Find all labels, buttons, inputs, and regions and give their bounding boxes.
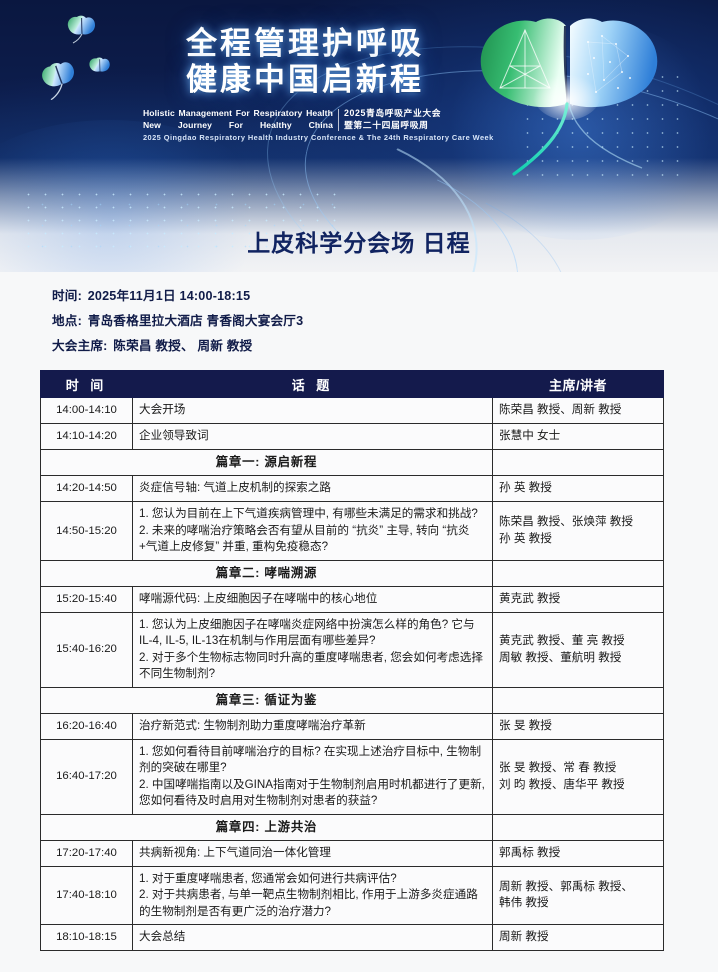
speaker-line: 周新 教授、郭禹标 教授、 [499, 879, 657, 896]
topic-line: 哮喘源代码: 上皮细胞因子在哮喘中的核心地位 [139, 591, 486, 608]
subtitle-word: Respiratory [254, 108, 303, 120]
schedule-row: 17:20-17:40共病新视角: 上下气道同治一体化管理郭禹标 教授 [41, 840, 664, 866]
page-title: 上皮科学分会场 日程 [0, 228, 718, 258]
row-time: 15:20-15:40 [41, 586, 133, 612]
row-speaker: 黄克武 教授 [493, 586, 664, 612]
topic-line: 企业领导致词 [139, 428, 486, 445]
row-speaker: 郭禹标 教授 [493, 840, 664, 866]
topic-line: 炎症信号轴: 气道上皮机制的探索之路 [139, 480, 486, 497]
speaker-line: 陈荣昌 教授、张焕萍 教授 [499, 514, 657, 531]
schedule-row: 16:20-16:40治疗新范式: 生物制剂助力重度哮喘治疗革新张 旻 教授 [41, 713, 664, 739]
row-time: 14:20-14:50 [41, 476, 133, 502]
row-topic: 1. 您认为目前在上下气道疾病管理中, 有哪些未满足的需求和挑战?2. 未来的哮… [133, 502, 493, 561]
section-title: 篇章一: 源启新程 [41, 450, 493, 476]
speaker-line: 孙 英 教授 [499, 531, 657, 548]
schedule-row: 18:10-18:15大会总结周新 教授 [41, 925, 664, 951]
row-time: 15:40-16:20 [41, 612, 133, 687]
speaker-line: 张 旻 教授、常 春 教授 [499, 760, 657, 777]
subtitle-cn-line-2: 暨第二十四届呼吸周 [344, 120, 441, 132]
meta-venue-label: 地点: [52, 314, 82, 328]
speaker-line: 郭禹标 教授 [499, 845, 657, 862]
banner-subtitle-english: Holistic Management For Respiratory Heal… [143, 108, 333, 131]
meta-time-row: 时间: 2025年11月1日 14:00-18:15 [52, 284, 718, 309]
section-speaker-empty [493, 687, 664, 713]
flying-leaf-3 [37, 55, 86, 106]
meta-chair-label: 大会主席: [52, 339, 108, 353]
schedule-section-row: 篇章三: 循证为鉴 [41, 687, 664, 713]
schedule-row: 15:40-16:201. 您认为上皮细胞因子在哮喘炎症网络中扮演怎么样的角色?… [41, 612, 664, 687]
banner-subtitle-chinese: 2025青岛呼吸产业大会 暨第二十四届呼吸周 [344, 108, 441, 131]
row-time: 16:20-16:40 [41, 713, 133, 739]
row-topic: 1. 您认为上皮细胞因子在哮喘炎症网络中扮演怎么样的角色? 它与IL-4, IL… [133, 612, 493, 687]
topic-line: 1. 您如何看待目前哮喘治疗的目标? 在实现上述治疗目标中, 生物制剂的突破在哪… [139, 744, 486, 777]
section-speaker-empty [493, 450, 664, 476]
speaker-line: 张 旻 教授 [499, 718, 657, 735]
row-speaker: 陈荣昌 教授、周新 教授 [493, 398, 664, 424]
subtitle-word: For [229, 120, 243, 132]
meta-time-label: 时间: [52, 289, 82, 303]
row-speaker: 孙 英 教授 [493, 476, 664, 502]
speaker-line: 周新 教授 [499, 929, 657, 946]
subtitle-word: Health [306, 108, 333, 120]
ginkgo-leaf-small-icon [66, 14, 98, 44]
topic-line: 2. 未来的哮喘治疗策略会否有望从目前的 “抗炎” 主导, 转向 “抗炎+气道上… [139, 523, 486, 556]
ginkgo-leaf-small-icon [37, 55, 84, 101]
ginkgo-leaf-icon [470, 8, 670, 188]
topic-line: 2. 对于多个生物标志物同时升高的重度哮喘患者, 您会如何考虑选择不同生物制剂? [139, 650, 486, 683]
row-time: 18:10-18:15 [41, 925, 133, 951]
row-time: 17:40-18:10 [41, 866, 133, 925]
topic-line: 1. 对于重度哮喘患者, 您通常会如何进行共病评估? [139, 871, 486, 888]
row-topic: 大会总结 [133, 925, 493, 951]
column-header-time: 时 间 [41, 371, 133, 398]
row-speaker: 黄克武 教授、董 亮 教授周敏 教授、董航明 教授 [493, 612, 664, 687]
row-speaker: 张 旻 教授、常 春 教授刘 昀 教授、唐华平 教授 [493, 739, 664, 814]
row-speaker: 周新 教授、郭禹标 教授、韩伟 教授 [493, 866, 664, 925]
speaker-line: 陈荣昌 教授、周新 教授 [499, 402, 657, 419]
meta-chair-row: 大会主席: 陈荣昌 教授、 周新 教授 [52, 334, 718, 359]
row-topic: 企业领导致词 [133, 424, 493, 450]
speaker-line: 黄克武 教授 [499, 591, 657, 608]
meta-chair-value: 陈荣昌 教授、 周新 教授 [113, 339, 252, 353]
banner-subtitle-english-full: 2025 Qingdao Respiratory Health Industry… [143, 133, 473, 142]
schedule-page: 全程管理护呼吸 健康中国启新程 Holistic Management For … [0, 0, 718, 972]
schedule-row: 14:10-14:20企业领导致词张慧中 女士 [41, 424, 664, 450]
ginkgo-leaf-small-icon [88, 56, 112, 79]
meta-venue-row: 地点: 青岛香格里拉大酒店 青香阁大宴会厅3 [52, 309, 718, 334]
section-title: 篇章四: 上游共治 [41, 814, 493, 840]
row-topic: 炎症信号轴: 气道上皮机制的探索之路 [133, 476, 493, 502]
schedule-table: 时 间 话 题 主席/讲者 14:00-14:10大会开场陈荣昌 教授、周新 教… [40, 370, 664, 951]
row-topic: 共病新视角: 上下气道同治一体化管理 [133, 840, 493, 866]
subtitle-word: New [143, 120, 161, 132]
row-speaker: 张 旻 教授 [493, 713, 664, 739]
meta-venue-value: 青岛香格里拉大酒店 青香阁大宴会厅3 [88, 314, 304, 328]
speaker-line: 刘 昀 教授、唐华平 教授 [499, 777, 657, 794]
subtitle-word: Management [179, 108, 233, 120]
schedule-row: 17:40-18:101. 对于重度哮喘患者, 您通常会如何进行共病评估?2. … [41, 866, 664, 925]
schedule-section-row: 篇章四: 上游共治 [41, 814, 664, 840]
schedule-row: 16:40-17:201. 您如何看待目前哮喘治疗的目标? 在实现上述治疗目标中… [41, 739, 664, 814]
section-title: 篇章二: 哮喘溯源 [41, 560, 493, 586]
subtitle-word: For [236, 108, 250, 120]
headline-line-1: 全程管理护呼吸 [140, 26, 470, 62]
subtitle-cn-line-1: 2025青岛呼吸产业大会 [344, 108, 441, 120]
speaker-line: 韩伟 教授 [499, 895, 657, 912]
page-content: 上皮科学分会场 日程 时间: 2025年11月1日 14:00-18:15 地点… [0, 228, 718, 951]
schedule-table-body: 14:00-14:10大会开场陈荣昌 教授、周新 教授14:10-14:20企业… [41, 398, 664, 951]
headline-line-2: 健康中国启新程 [140, 62, 470, 98]
row-time: 14:00-14:10 [41, 398, 133, 424]
subtitle-word: Healthy [260, 120, 292, 132]
schedule-table-wrapper: 时 间 话 题 主席/讲者 14:00-14:10大会开场陈荣昌 教授、周新 教… [40, 370, 663, 951]
speaker-line: 周敏 教授、董航明 教授 [499, 650, 657, 667]
event-meta: 时间: 2025年11月1日 14:00-18:15 地点: 青岛香格里拉大酒店… [52, 284, 718, 359]
schedule-row: 14:50-15:201. 您认为目前在上下气道疾病管理中, 有哪些未满足的需求… [41, 502, 664, 561]
topic-line: 2. 对于共病患者, 与单一靶点生物制剂相比, 作用于上游多炎症通路的生物制剂是… [139, 887, 486, 920]
topic-line: 大会开场 [139, 402, 486, 419]
banner-subtitle-block: Holistic Management For Respiratory Heal… [143, 108, 473, 131]
row-topic: 1. 您如何看待目前哮喘治疗的目标? 在实现上述治疗目标中, 生物制剂的突破在哪… [133, 739, 493, 814]
row-time: 16:40-17:20 [41, 739, 133, 814]
schedule-table-head: 时 间 话 题 主席/讲者 [41, 371, 664, 398]
section-speaker-empty [493, 560, 664, 586]
speaker-line: 孙 英 教授 [499, 480, 657, 497]
row-topic: 治疗新范式: 生物制剂助力重度哮喘治疗革新 [133, 713, 493, 739]
subtitle-word: Journey [178, 120, 212, 132]
row-topic: 哮喘源代码: 上皮细胞因子在哮喘中的核心地位 [133, 586, 493, 612]
row-time: 17:20-17:40 [41, 840, 133, 866]
ginkgo-leaf-logo [470, 8, 670, 188]
topic-line: 大会总结 [139, 929, 486, 946]
row-speaker: 周新 教授 [493, 925, 664, 951]
subtitle-en-row-1: Holistic Management For Respiratory Heal… [143, 108, 333, 120]
meta-time-value: 2025年11月1日 14:00-18:15 [88, 289, 251, 303]
row-topic: 大会开场 [133, 398, 493, 424]
speaker-line: 张慧中 女士 [499, 428, 657, 445]
row-time: 14:50-15:20 [41, 502, 133, 561]
column-header-topic: 话 题 [133, 371, 493, 398]
schedule-row: 14:20-14:50炎症信号轴: 气道上皮机制的探索之路孙 英 教授 [41, 476, 664, 502]
subtitle-word: China [309, 120, 333, 132]
row-speaker: 陈荣昌 教授、张焕萍 教授孙 英 教授 [493, 502, 664, 561]
topic-line: 1. 您认为目前在上下气道疾病管理中, 有哪些未满足的需求和挑战? [139, 506, 486, 523]
banner-headline: 全程管理护呼吸 健康中国启新程 [140, 26, 470, 98]
row-time: 14:10-14:20 [41, 424, 133, 450]
schedule-section-row: 篇章一: 源启新程 [41, 450, 664, 476]
row-speaker: 张慧中 女士 [493, 424, 664, 450]
row-topic: 1. 对于重度哮喘患者, 您通常会如何进行共病评估?2. 对于共病患者, 与单一… [133, 866, 493, 925]
schedule-row: 15:20-15:40哮喘源代码: 上皮细胞因子在哮喘中的核心地位黄克武 教授 [41, 586, 664, 612]
section-speaker-empty [493, 814, 664, 840]
column-header-speaker: 主席/讲者 [493, 371, 664, 398]
schedule-section-row: 篇章二: 哮喘溯源 [41, 560, 664, 586]
section-title: 篇章三: 循证为鉴 [41, 687, 493, 713]
flying-leaf-1 [66, 14, 98, 49]
topic-line: 治疗新范式: 生物制剂助力重度哮喘治疗革新 [139, 718, 486, 735]
subtitle-word: Holistic [143, 108, 175, 120]
subtitle-divider [338, 109, 339, 131]
speaker-line: 黄克武 教授、董 亮 教授 [499, 633, 657, 650]
subtitle-en-row-2: New Journey For Healthy China [143, 120, 333, 132]
topic-line: 2. 中国哮喘指南以及GINA指南对于生物制剂启用时机都进行了更新, 您如何看待… [139, 777, 486, 810]
flying-leaf-2 [88, 56, 112, 84]
topic-line: 共病新视角: 上下气道同治一体化管理 [139, 845, 486, 862]
schedule-row: 14:00-14:10大会开场陈荣昌 教授、周新 教授 [41, 398, 664, 424]
topic-line: 1. 您认为上皮细胞因子在哮喘炎症网络中扮演怎么样的角色? 它与IL-4, IL… [139, 617, 486, 650]
schedule-header-row: 时 间 话 题 主席/讲者 [41, 371, 664, 398]
